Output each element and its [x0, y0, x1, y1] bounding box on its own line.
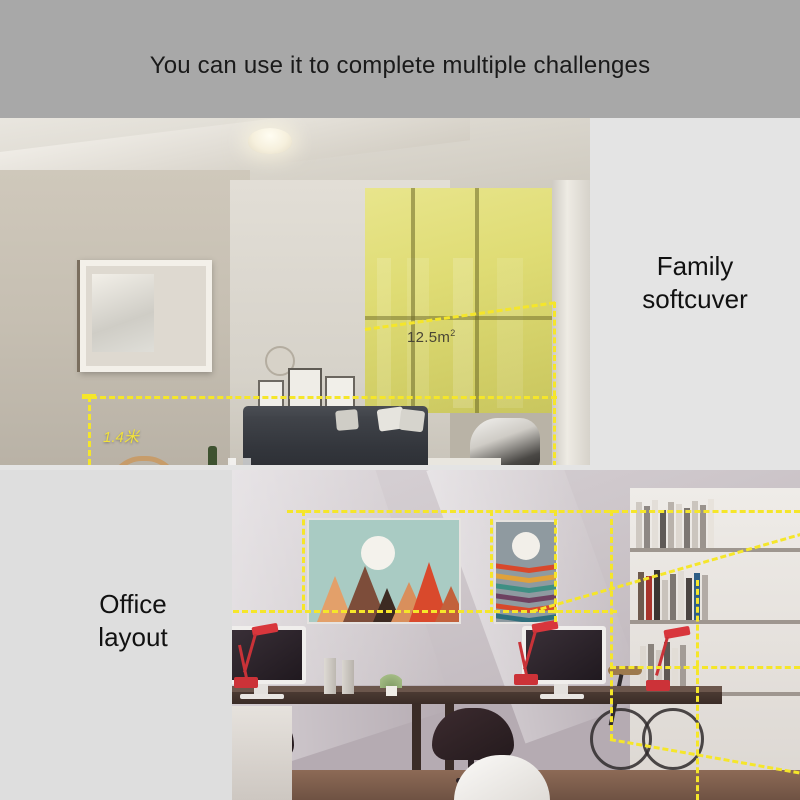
mountain-wall-art: [307, 518, 461, 624]
monitor-base: [540, 694, 584, 699]
vertical-layout-guide: [302, 510, 305, 610]
glass-cylinder: [342, 660, 354, 694]
page-title: You can use it to complete multiple chal…: [0, 52, 800, 80]
wall-height-annotation: 1.4米: [103, 426, 139, 447]
wine-glass: [243, 458, 251, 465]
window-right-guide: [553, 302, 556, 465]
family-softcuver-label: Family softcuver: [600, 250, 790, 317]
wine-glass: [228, 458, 236, 465]
books-row: [636, 498, 714, 548]
shelf-layout-guide: [610, 666, 800, 669]
office-photo: [232, 470, 800, 800]
office-label-line2: layout: [48, 621, 218, 654]
throw-pillow: [335, 409, 359, 431]
bike-wheel: [642, 708, 704, 770]
long-dark-desk: [232, 692, 722, 704]
potted-plant: [380, 672, 402, 688]
vertical-layout-guide: [610, 510, 613, 740]
throw-pillow: [399, 409, 425, 433]
lamp-base: [646, 680, 670, 691]
city-skyline: [377, 258, 547, 408]
window-mullion: [411, 188, 415, 413]
wall-mirror: [80, 260, 212, 372]
window-mullion: [475, 188, 479, 413]
horizontal-layout-guide: [232, 610, 617, 613]
product-marketing-image: You can use it to complete multiple chal…: [0, 0, 800, 800]
living-room-photo: 12.5m2: [0, 118, 590, 465]
chair-shell: [432, 708, 514, 760]
family-label-line2: softcuver: [600, 283, 790, 316]
window-area-superscript: 2: [450, 328, 455, 338]
large-window: 12.5m2: [365, 188, 555, 413]
window-area-annotation: 12.5m2: [407, 328, 456, 346]
wine-bottle: [208, 446, 217, 465]
chevron-wall-art: [494, 520, 558, 624]
office-chair: [432, 708, 514, 760]
office-layout-label: Office layout: [48, 588, 218, 655]
lamp-base: [234, 677, 258, 688]
office-label-line1: Office: [48, 588, 218, 621]
window-curtain: [552, 180, 590, 465]
monitor-base: [240, 694, 284, 699]
window-area-value: 12.5m: [407, 329, 450, 346]
sun-shape: [512, 532, 540, 560]
vertical-layout-guide: [696, 580, 699, 800]
glass-cylinder: [324, 658, 336, 694]
counter-column: [232, 706, 292, 800]
vertical-measure-line: [88, 396, 91, 465]
shelf-board: [630, 620, 800, 624]
vertical-layout-guide: [490, 510, 493, 622]
horizontal-layout-guide: [287, 510, 800, 513]
shelf-board: [630, 548, 800, 552]
family-label-line1: Family: [600, 250, 790, 283]
lamp-base: [514, 674, 538, 685]
monitor-neck: [554, 684, 568, 694]
ceiling-light-icon: [248, 128, 292, 154]
horizontal-measure-line: [82, 396, 557, 399]
sun-shape: [361, 536, 395, 570]
